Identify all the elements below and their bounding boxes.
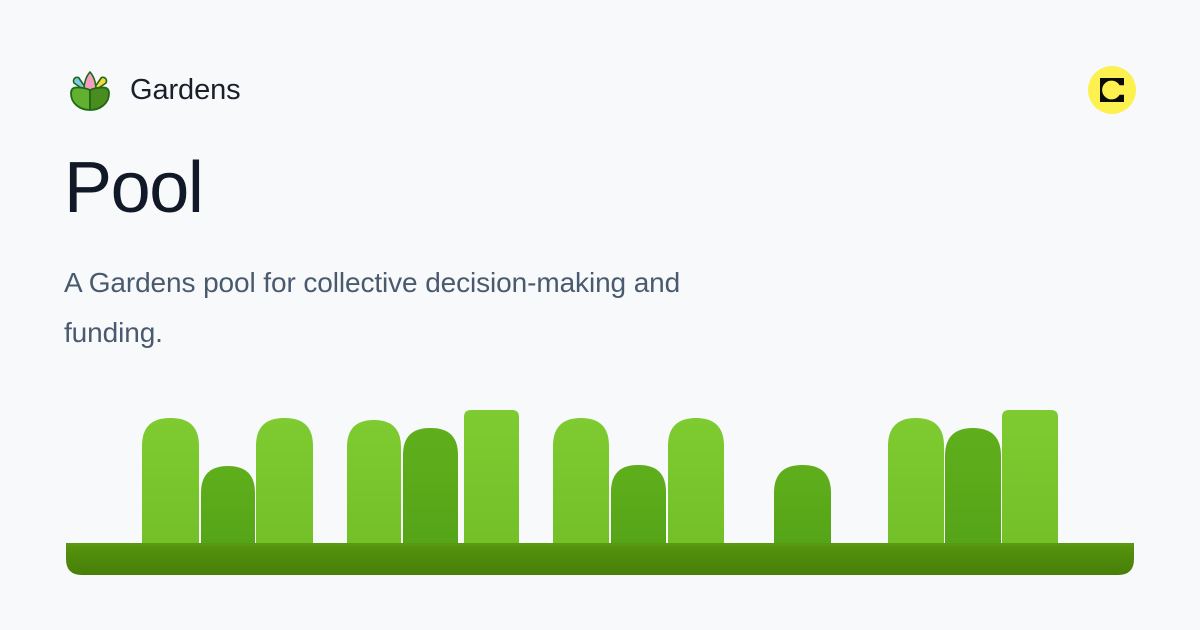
page-title: Pool xyxy=(64,150,884,228)
grass-ground xyxy=(66,543,1134,575)
grass-blade xyxy=(888,418,944,553)
celo-c-badge-icon[interactable] xyxy=(1088,66,1136,114)
grass-blade xyxy=(945,428,1001,553)
brand-name: Gardens xyxy=(130,76,241,105)
page-description: A Gardens pool for collective decision-m… xyxy=(64,258,764,358)
grass-blade xyxy=(464,410,519,553)
ground-highlight xyxy=(66,543,1134,546)
grass-blades xyxy=(142,410,1058,553)
ground-bar xyxy=(66,543,1134,575)
grass-blade xyxy=(347,420,401,553)
card-body: Pool A Gardens pool for collective decis… xyxy=(64,150,884,357)
grass-blade xyxy=(774,465,831,553)
grass-blade xyxy=(256,418,313,553)
card-header: Gardens xyxy=(64,60,1136,120)
lotus-flower-icon xyxy=(64,64,116,116)
og-preview-card: Gardens Pool A Gardens pool for collecti… xyxy=(0,0,1200,630)
grass-illustration xyxy=(0,380,1200,580)
grass-blade xyxy=(611,465,666,553)
grass-blade xyxy=(201,466,255,553)
grass-blade xyxy=(1002,410,1058,553)
grass-blade xyxy=(668,418,724,553)
grass-blade xyxy=(142,418,199,553)
grass-blade xyxy=(403,428,458,553)
grass-blade xyxy=(553,418,609,553)
brand[interactable]: Gardens xyxy=(64,64,241,116)
